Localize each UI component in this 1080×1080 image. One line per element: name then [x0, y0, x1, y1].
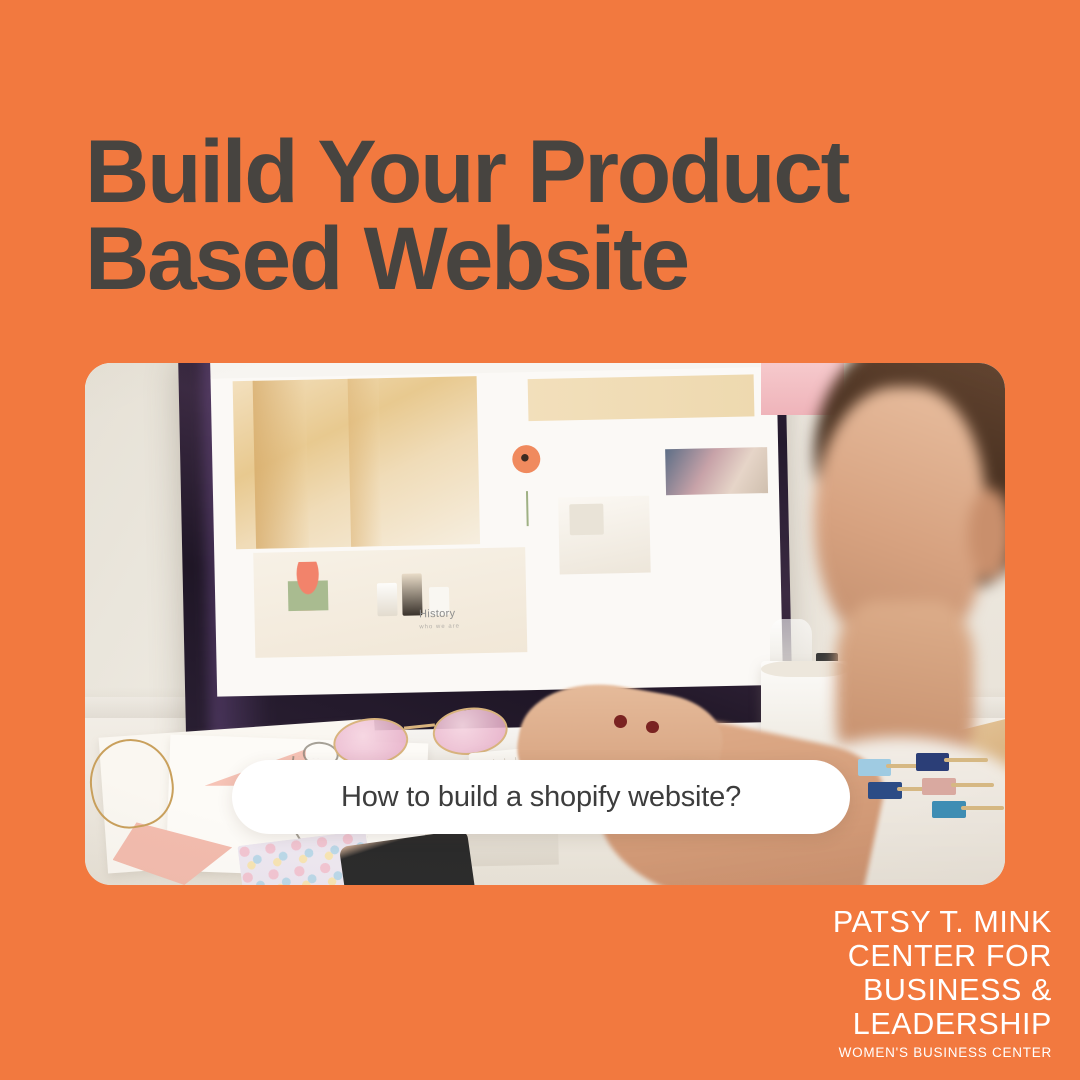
- site-history-section: History who we are: [419, 608, 460, 631]
- page-title: Build Your Product Based Website: [85, 128, 985, 302]
- logo-line-1: PATSY T. MINK: [833, 905, 1052, 939]
- search-query-text: How to build a shopify website?: [341, 781, 741, 814]
- binder-clip-pink: [922, 778, 955, 796]
- poppy-flower: [511, 445, 541, 523]
- person-ear: [968, 489, 1005, 579]
- poster-canvas: Build Your Product Based Website Clothes…: [0, 0, 1080, 1080]
- site-hero-image: [232, 376, 479, 549]
- logo-line-4: LEADERSHIP: [833, 1007, 1052, 1041]
- site-history-sublabel: who we are: [419, 624, 460, 631]
- logo-line-2: CENTER FOR: [833, 939, 1052, 973]
- site-shelf-plant: [569, 503, 604, 535]
- sunglasses-bridge: [404, 723, 436, 729]
- monitor-screen: Clothes & Accessorize: [209, 363, 783, 697]
- poppy-stem: [525, 491, 528, 526]
- imac-monitor: Clothes & Accessorize: [177, 363, 793, 750]
- logo-line-3: BUSINESS &: [833, 973, 1052, 1007]
- bottle-clear: [376, 583, 397, 616]
- poppy-bud: [511, 445, 540, 474]
- organization-logo: PATSY T. MINK CENTER FOR BUSINESS & LEAD…: [833, 905, 1052, 1060]
- binder-clip-navy: [868, 782, 901, 800]
- binder-clips: [858, 749, 987, 817]
- logo-tagline: WOMEN'S BUSINESS CENTER: [833, 1045, 1052, 1060]
- site-lower-flower: [287, 561, 328, 611]
- search-input[interactable]: How to build a shopify website?: [232, 760, 850, 834]
- site-beige-banner: [527, 374, 754, 421]
- berry-decor-a: [614, 715, 627, 728]
- binder-clip-teal: [932, 801, 965, 819]
- site-history-label: History: [419, 608, 456, 621]
- binder-clip-darkblue: [916, 753, 949, 771]
- binder-clip-lightblue: [858, 759, 891, 777]
